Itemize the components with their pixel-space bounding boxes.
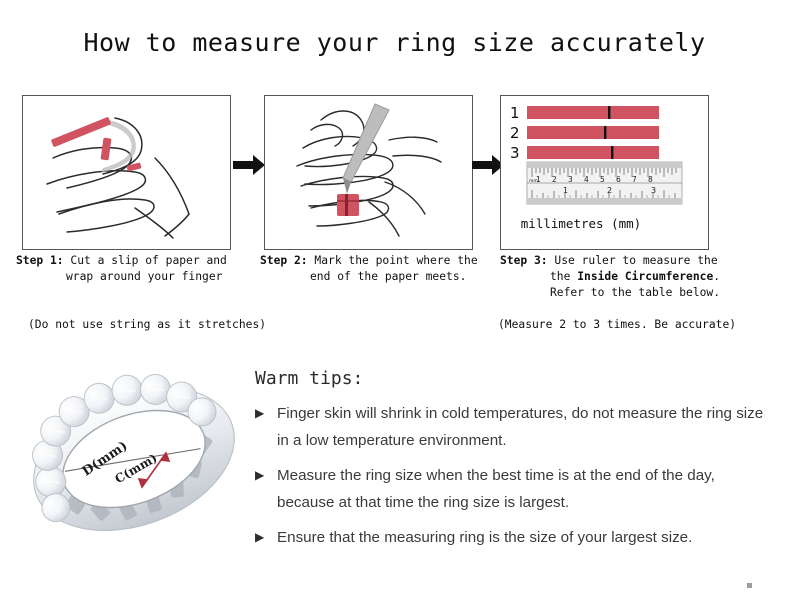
- step-1-note: (Do not use string as it stretches): [28, 318, 266, 331]
- hand-with-paper-strip-icon: [23, 96, 231, 250]
- step-3-label: Step 3:: [500, 254, 548, 267]
- svg-text:4: 4: [584, 175, 589, 184]
- paper-strip-red: [51, 117, 111, 148]
- step-1-label: Step 1:: [16, 254, 64, 267]
- strip-label-3: 3: [510, 144, 520, 162]
- step-3-line1: Use ruler to measure the: [554, 254, 717, 267]
- paper-strip-wrapped: [101, 138, 112, 161]
- warm-tips-list: ▶ Finger skin will shrink in cold temper…: [255, 400, 775, 559]
- list-item: ▶ Ensure that the measuring ring is the …: [255, 524, 775, 551]
- step-3-note: (Measure 2 to 3 times. Be accurate): [498, 318, 736, 331]
- svg-text:1: 1: [536, 175, 541, 184]
- tip-text: Measure the ring size when the best time…: [277, 467, 715, 511]
- ruler-with-paper-strips-icon: 1 2 3: [501, 96, 709, 250]
- svg-text:8: 8: [648, 175, 653, 184]
- ring-diagram: D(mm) C(mm): [18, 352, 250, 567]
- step-3-line2: the: [550, 270, 577, 283]
- hand-marking-with-pen-icon: [265, 96, 473, 250]
- list-item: ▶ Measure the ring size when the best ti…: [255, 462, 775, 516]
- strip-label-2: 2: [510, 124, 520, 142]
- warm-tips-heading: Warm tips:: [255, 368, 363, 389]
- step-1-line1: Cut a slip of paper and: [70, 254, 226, 267]
- step-3-line3: Refer to the table below.: [500, 285, 770, 301]
- corner-artifact: [747, 583, 752, 588]
- arrow-right-icon: [231, 152, 267, 178]
- step-1-caption: Step 1: Cut a slip of paper and wrap aro…: [16, 253, 251, 285]
- step-3-illustration-panel: 1 2 3: [500, 95, 709, 250]
- ring-size-guide-page: How to measure your ring size accurately: [0, 0, 789, 606]
- bullet-triangle-icon: ▶: [255, 462, 264, 489]
- svg-text:5: 5: [600, 175, 605, 184]
- tip-text: Finger skin will shrink in cold temperat…: [277, 405, 763, 449]
- svg-text:6: 6: [616, 175, 621, 184]
- step-2-illustration-panel: [264, 95, 473, 250]
- svg-text:7: 7: [632, 175, 637, 184]
- svg-text:3: 3: [651, 186, 656, 195]
- step-2-line1: Mark the point where the: [314, 254, 477, 267]
- page-title: How to measure your ring size accurately: [0, 28, 789, 57]
- measured-strip-3: [527, 146, 659, 159]
- step-2-caption: Step 2: Mark the point where the end of …: [260, 253, 495, 285]
- svg-text:3: 3: [568, 175, 573, 184]
- step-3-emphasis: Inside Circumference: [577, 270, 713, 283]
- bullet-triangle-icon: ▶: [255, 400, 264, 427]
- measured-strip-1: [527, 106, 659, 119]
- svg-text:1: 1: [563, 186, 568, 195]
- ruler-unit-caption: millimetres (mm): [521, 216, 641, 231]
- ruler-icon: mm 123 456 78 123: [527, 162, 682, 204]
- measured-strip-2: [527, 126, 659, 139]
- svg-text:2: 2: [552, 175, 557, 184]
- paper-strip-on-finger: [337, 194, 359, 216]
- tip-text: Ensure that the measuring ring is the si…: [277, 529, 692, 546]
- strip-label-1: 1: [510, 104, 520, 122]
- bullet-triangle-icon: ▶: [255, 524, 264, 551]
- step-1-line2: wrap around your finger: [16, 269, 251, 285]
- list-item: ▶ Finger skin will shrink in cold temper…: [255, 400, 775, 454]
- step-3-line2-end: .: [713, 270, 720, 283]
- step-2-line2: end of the paper meets.: [260, 269, 495, 285]
- step-1-illustration-panel: [22, 95, 231, 250]
- step-3-caption: Step 3: Use ruler to measure the the Ins…: [500, 253, 770, 301]
- svg-text:2: 2: [607, 186, 612, 195]
- step-2-label: Step 2:: [260, 254, 308, 267]
